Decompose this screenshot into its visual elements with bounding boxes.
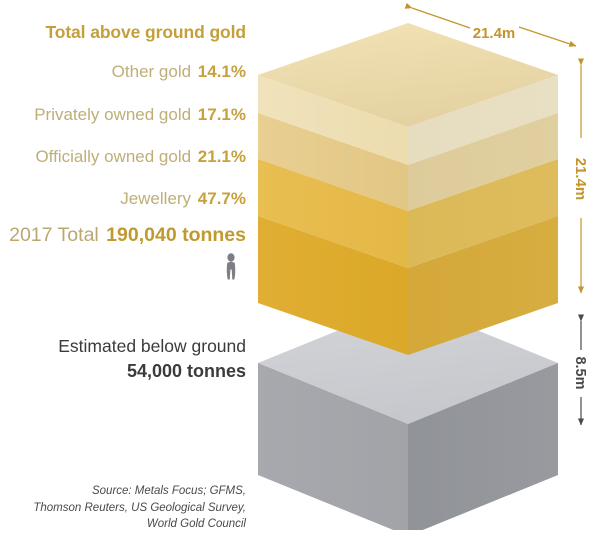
page-title: Total above ground gold (0, 22, 246, 43)
source-line-1: Source: Metals Focus; GFMS, (0, 483, 246, 500)
dimension-slab-height: 8.5m (572, 321, 588, 425)
legend-value-other-gold: 14.1% (198, 62, 246, 81)
source-line-2: Thomson Reuters, US Geological Survey, (0, 500, 246, 517)
legend-label-officially-owned-gold: Officially owned gold (35, 147, 191, 166)
legend-item-officially-owned-gold: Officially owned gold 21.1% (0, 147, 246, 167)
legend-value-privately-owned-gold: 17.1% (198, 105, 246, 124)
above-ground-gold-cube (258, 23, 558, 355)
below-ground-value: 54,000 tonnes (0, 359, 246, 383)
legend-value-officially-owned-gold: 21.1% (198, 147, 246, 166)
dimension-cube-height-label: 21.4m (572, 158, 589, 201)
dimension-top-edge-label: 21.4m (473, 25, 516, 42)
dimension-cube-height: 21.4m (572, 65, 589, 293)
below-ground-block: Estimated below ground 54,000 tonnes (0, 335, 246, 383)
legend-label-jewellery: Jewellery (120, 189, 191, 208)
legend-item-other-gold: Other gold 14.1% (0, 62, 246, 82)
legend-item-jewellery: Jewellery 47.7% (0, 189, 246, 209)
legend-label-other-gold: Other gold (112, 62, 191, 81)
human-scale-figure (227, 253, 236, 279)
legend-label-privately-owned-gold: Privately owned gold (34, 105, 191, 124)
infographic-canvas: 21.4m 21.4m 8.5m Total above ground gold… (0, 0, 600, 536)
dimension-slab-height-label: 8.5m (572, 356, 588, 389)
source-line-3: World Gold Council (0, 516, 246, 533)
below-ground-label: Estimated below ground (0, 335, 246, 359)
legend-item-privately-owned-gold: Privately owned gold 17.1% (0, 105, 246, 125)
legend-value-jewellery: 47.7% (198, 189, 246, 208)
total-label: 2017 Total (9, 224, 99, 246)
total-value: 190,040 tonnes (106, 224, 246, 246)
source-note: Source: Metals Focus; GFMS, Thomson Reut… (0, 483, 246, 533)
total-row: 2017 Total 190,040 tonnes (0, 224, 246, 247)
